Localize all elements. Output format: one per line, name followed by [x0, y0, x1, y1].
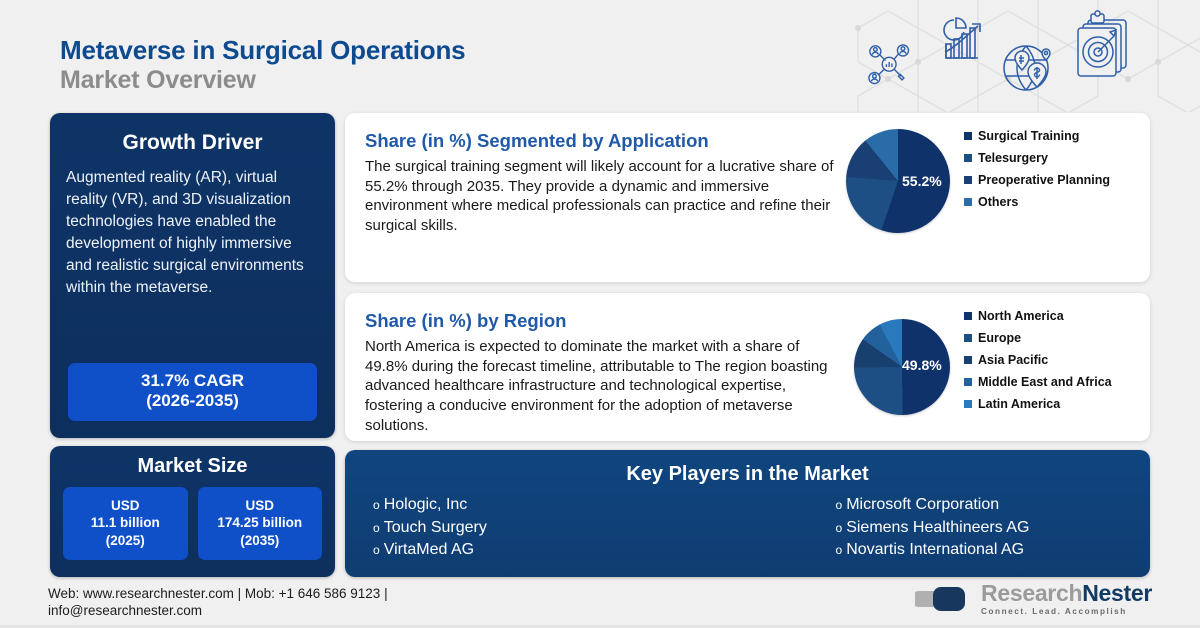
bullet-icon: o [373, 520, 380, 537]
key-player-name: Touch Surgery [384, 517, 487, 540]
key-player-name: VirtaMed AG [384, 539, 474, 562]
bullet-icon: o [373, 497, 380, 514]
legend-item: Telesurgery [964, 151, 1110, 165]
legend-label: Europe [978, 331, 1021, 345]
logo-tagline: Connect. Lead. Accomplish [981, 608, 1152, 616]
region-legend: North AmericaEuropeAsia PacificMiddle Ea… [964, 305, 1112, 419]
legend-label: Latin America [978, 397, 1060, 411]
legend-swatch-icon [964, 198, 972, 206]
bullet-icon: o [836, 542, 843, 559]
key-player-name: Siemens Healthineers AG [846, 517, 1029, 540]
application-share-card: Share (in %) Segmented by Application Th… [345, 113, 1150, 282]
legend-swatch-icon [964, 356, 972, 364]
application-card-description: The surgical training segment will likel… [365, 157, 840, 236]
legend-item: Latin America [964, 397, 1112, 411]
footer-line-1: Web: www.researchnester.com | Mob: +1 64… [48, 585, 518, 602]
clipboard-target-icon [1078, 11, 1126, 76]
logo-primary-text: Research [981, 580, 1082, 606]
page-subtitle: Market Overview [60, 66, 465, 95]
page-title: Metaverse in Surgical Operations [60, 36, 465, 65]
key-player-item: oTouch Surgery [373, 517, 748, 540]
key-player-name: Novartis International AG [846, 539, 1024, 562]
bullet-icon: o [373, 542, 380, 559]
key-player-item: oMicrosoft Corporation [836, 494, 1151, 517]
legend-item: Surgical Training [964, 129, 1110, 143]
legend-swatch-icon [964, 132, 972, 140]
market-size-box-2025: USD 11.1 billion (2025) [63, 487, 188, 560]
legend-label: Others [978, 195, 1018, 209]
legend-swatch-icon [964, 378, 972, 386]
region-card-description: North America is expected to dominate th… [365, 337, 840, 435]
cagr-period: (2026-2035) [72, 391, 313, 412]
logo-mark-icon [915, 583, 973, 615]
currency-label: USD [65, 497, 186, 514]
key-players-left-column: oHologic, IncoTouch SurgeryoVirtaMed AG [345, 494, 748, 562]
region-share-card: Share (in %) by Region North America is … [345, 293, 1150, 441]
application-legend: Surgical TrainingTelesurgeryPreoperative… [964, 125, 1110, 217]
legend-item: North America [964, 309, 1112, 323]
application-card-title: Share (in %) Segmented by Application [365, 130, 840, 152]
key-player-item: oNovartis International AG [836, 539, 1151, 562]
key-player-name: Hologic, Inc [384, 494, 468, 517]
growth-driver-title: Growth Driver [50, 131, 335, 155]
logo-secondary-text: Nester [1082, 580, 1152, 606]
market-year: (2035) [200, 532, 321, 549]
growth-driver-body: Augmented reality (AR), virtual reality … [66, 167, 319, 299]
page-header: Metaverse in Surgical Operations Market … [60, 36, 465, 95]
legend-label: North America [978, 309, 1064, 323]
legend-swatch-icon [964, 400, 972, 408]
region-card-title: Share (in %) by Region [365, 310, 840, 332]
pie-value-label: 55.2% [902, 173, 942, 189]
key-players-right-column: oMicrosoft CorporationoSiemens Healthine… [748, 494, 1151, 562]
key-player-item: oVirtaMed AG [373, 539, 748, 562]
key-players-title: Key Players in the Market [345, 463, 1150, 486]
market-size-box-2035: USD 174.25 billion (2035) [198, 487, 323, 560]
legend-item: Middle East and Africa [964, 375, 1112, 389]
legend-label: Telesurgery [978, 151, 1048, 165]
legend-swatch-icon [964, 154, 972, 162]
market-value: 174.25 billion [200, 514, 321, 531]
legend-item: Preoperative Planning [964, 173, 1110, 187]
key-players-panel: Key Players in the Market oHologic, Inco… [345, 450, 1150, 577]
global-finance-icon [1004, 46, 1050, 90]
region-pie-chart: 49.8% North AmericaEuropeAsia PacificMid… [840, 293, 1150, 441]
bar-chart-growth-icon [944, 18, 980, 58]
footer-contact: Web: www.researchnester.com | Mob: +1 64… [48, 585, 518, 620]
legend-item: Others [964, 195, 1110, 209]
legend-label: Preoperative Planning [978, 173, 1110, 187]
key-player-item: oSiemens Healthineers AG [836, 517, 1151, 540]
legend-swatch-icon [964, 312, 972, 320]
market-year: (2025) [65, 532, 186, 549]
market-size-title: Market Size [50, 455, 335, 478]
infographic-page: Metaverse in Surgical Operations Market … [0, 0, 1200, 628]
cagr-badge: 31.7% CAGR (2026-2035) [68, 363, 317, 421]
bullet-icon: o [836, 497, 843, 514]
currency-label: USD [200, 497, 321, 514]
pie-graphic: 49.8% [854, 319, 950, 415]
network-users-analytics-icon [869, 45, 909, 84]
pie-value-label: 49.8% [902, 357, 942, 373]
market-size-boxes: USD 11.1 billion (2025) USD 174.25 billi… [63, 487, 322, 560]
pie-graphic: 55.2% [846, 129, 950, 233]
growth-driver-panel: Growth Driver Augmented reality (AR), vi… [50, 113, 335, 438]
research-nester-logo: ResearchNester Connect. Lead. Accomplish [915, 582, 1152, 616]
legend-swatch-icon [964, 176, 972, 184]
legend-item: Europe [964, 331, 1112, 345]
market-value: 11.1 billion [65, 514, 186, 531]
cagr-value: 31.7% CAGR [72, 371, 313, 392]
legend-label: Surgical Training [978, 129, 1079, 143]
key-player-item: oHologic, Inc [373, 494, 748, 517]
legend-swatch-icon [964, 334, 972, 342]
legend-label: Middle East and Africa [978, 375, 1112, 389]
footer-line-2: info@researchnester.com [48, 602, 518, 619]
bullet-icon: o [836, 520, 843, 537]
market-size-panel: Market Size USD 11.1 billion (2025) USD … [50, 446, 335, 577]
legend-item: Asia Pacific [964, 353, 1112, 367]
legend-label: Asia Pacific [978, 353, 1048, 367]
key-player-name: Microsoft Corporation [846, 494, 999, 517]
hex-decoration [840, 0, 1200, 112]
application-pie-chart: 55.2% Surgical TrainingTelesurgeryPreope… [840, 113, 1150, 282]
